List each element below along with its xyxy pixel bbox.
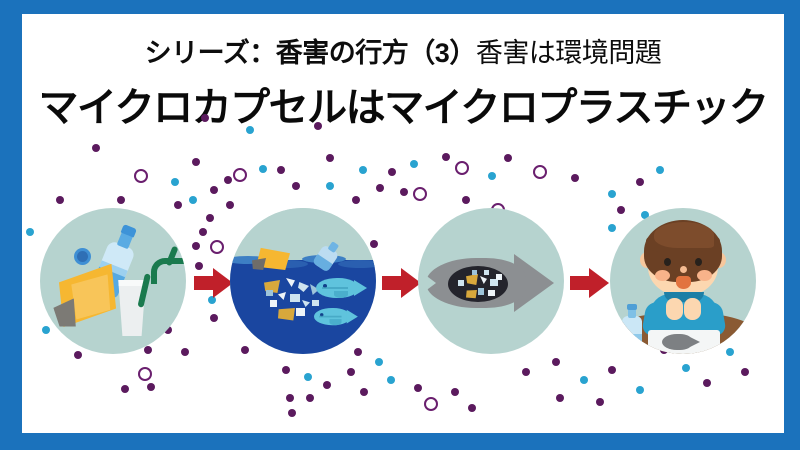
decorative-dot: [359, 166, 367, 174]
decorative-dot: [442, 153, 450, 161]
decorative-dot: [233, 168, 247, 182]
decorative-dot: [571, 174, 579, 182]
decorative-dot: [455, 161, 469, 175]
decorative-dot: [326, 182, 334, 190]
series-suffix-text: 香害は環境問題: [476, 38, 662, 68]
decorative-dot: [533, 165, 547, 179]
mouth: [676, 276, 691, 289]
boy-hair-highlight: [654, 222, 714, 248]
decorative-dot: [304, 373, 312, 381]
decorative-dot: [288, 409, 296, 417]
decorative-dot: [171, 178, 179, 186]
nose: [680, 266, 687, 273]
step-1-plastic-waste: [40, 208, 186, 354]
hand-left: [666, 298, 683, 320]
water-bottle-icon: [622, 304, 642, 354]
gray-fish-icon: [426, 254, 558, 312]
series-subtitle: シリーズ：香害の行方（3）香害は環境問題: [22, 40, 784, 67]
cheek-left: [655, 270, 670, 281]
decorative-dot: [286, 394, 294, 402]
fish-stomach: [448, 266, 508, 302]
step-3-fish-ingestion: [418, 208, 564, 354]
decorative-dot: [451, 388, 459, 396]
decorative-dot: [201, 114, 209, 122]
decorative-dot: [488, 172, 496, 180]
decorative-dot: [192, 158, 200, 166]
decorative-dot: [504, 154, 512, 162]
snack-bag-icon: [47, 264, 123, 332]
decorative-dot: [414, 384, 422, 392]
poster-stage: シリーズ：香害の行方（3）香害は環境問題 マイクロカプセルはマイクロプラスチック: [0, 0, 800, 450]
decorative-dot: [306, 394, 314, 402]
decorative-dot: [703, 379, 711, 387]
decorative-dot: [314, 122, 322, 130]
frame-left-band: [0, 0, 22, 450]
frame-bottom-band: [0, 433, 800, 450]
drinking-straw-icon: [145, 246, 186, 308]
decorative-dot: [596, 398, 604, 406]
decorative-dot: [410, 160, 418, 168]
decorative-dot: [468, 404, 476, 412]
decorative-dot: [413, 187, 427, 201]
decorative-dot: [121, 385, 129, 393]
decorative-dot: [92, 144, 100, 152]
step-2-ocean-microplastics: [230, 208, 376, 354]
decorative-dot: [376, 184, 384, 192]
flow-arrow-3: [570, 268, 610, 298]
decorative-dot: [387, 376, 395, 384]
frame-right-band: [784, 0, 800, 450]
decorative-dot: [277, 166, 285, 174]
flow-arrow-2: [382, 268, 422, 298]
eye-left: [664, 258, 671, 266]
decorative-dot: [326, 154, 334, 162]
decorative-dot: [360, 388, 368, 396]
decorative-dot: [134, 169, 148, 183]
decorative-dot: [292, 182, 300, 190]
decorative-dot: [323, 381, 331, 389]
hand-right: [684, 298, 701, 320]
frame-top-band: [0, 0, 800, 14]
cheek-right: [697, 270, 712, 281]
decorative-dot: [388, 168, 396, 176]
decorative-dot: [147, 383, 155, 391]
decorative-dot: [580, 376, 588, 384]
decorative-dot: [224, 176, 232, 184]
ocean-water: [230, 260, 376, 354]
decorative-dot: [656, 166, 664, 174]
series-prefix-text: シリーズ：香害の行方（3）: [145, 38, 476, 68]
step-4-human-consumption: [610, 208, 756, 354]
decorative-dot: [424, 397, 438, 411]
flow-arrow-1: [194, 268, 234, 298]
decorative-dot: [246, 126, 254, 134]
decorative-dot: [259, 165, 267, 173]
bottle-cap-icon: [74, 248, 91, 265]
decorative-dot: [210, 186, 218, 194]
poster-canvas: シリーズ：香害の行方（3）香害は環境問題 マイクロカプセルはマイクロプラスチック: [22, 14, 784, 433]
fish-on-plate: [662, 334, 702, 350]
plastic-flow-diagram: [22, 202, 784, 372]
eye-right: [695, 258, 702, 266]
decorative-dot: [556, 394, 564, 402]
page-title: マイクロカプセルはマイクロプラスチック: [22, 88, 784, 128]
decorative-dot: [400, 188, 408, 196]
decorative-dot: [636, 178, 644, 186]
decorative-dot: [608, 190, 616, 198]
wave-line: [230, 254, 376, 270]
decorative-dot: [636, 386, 644, 394]
